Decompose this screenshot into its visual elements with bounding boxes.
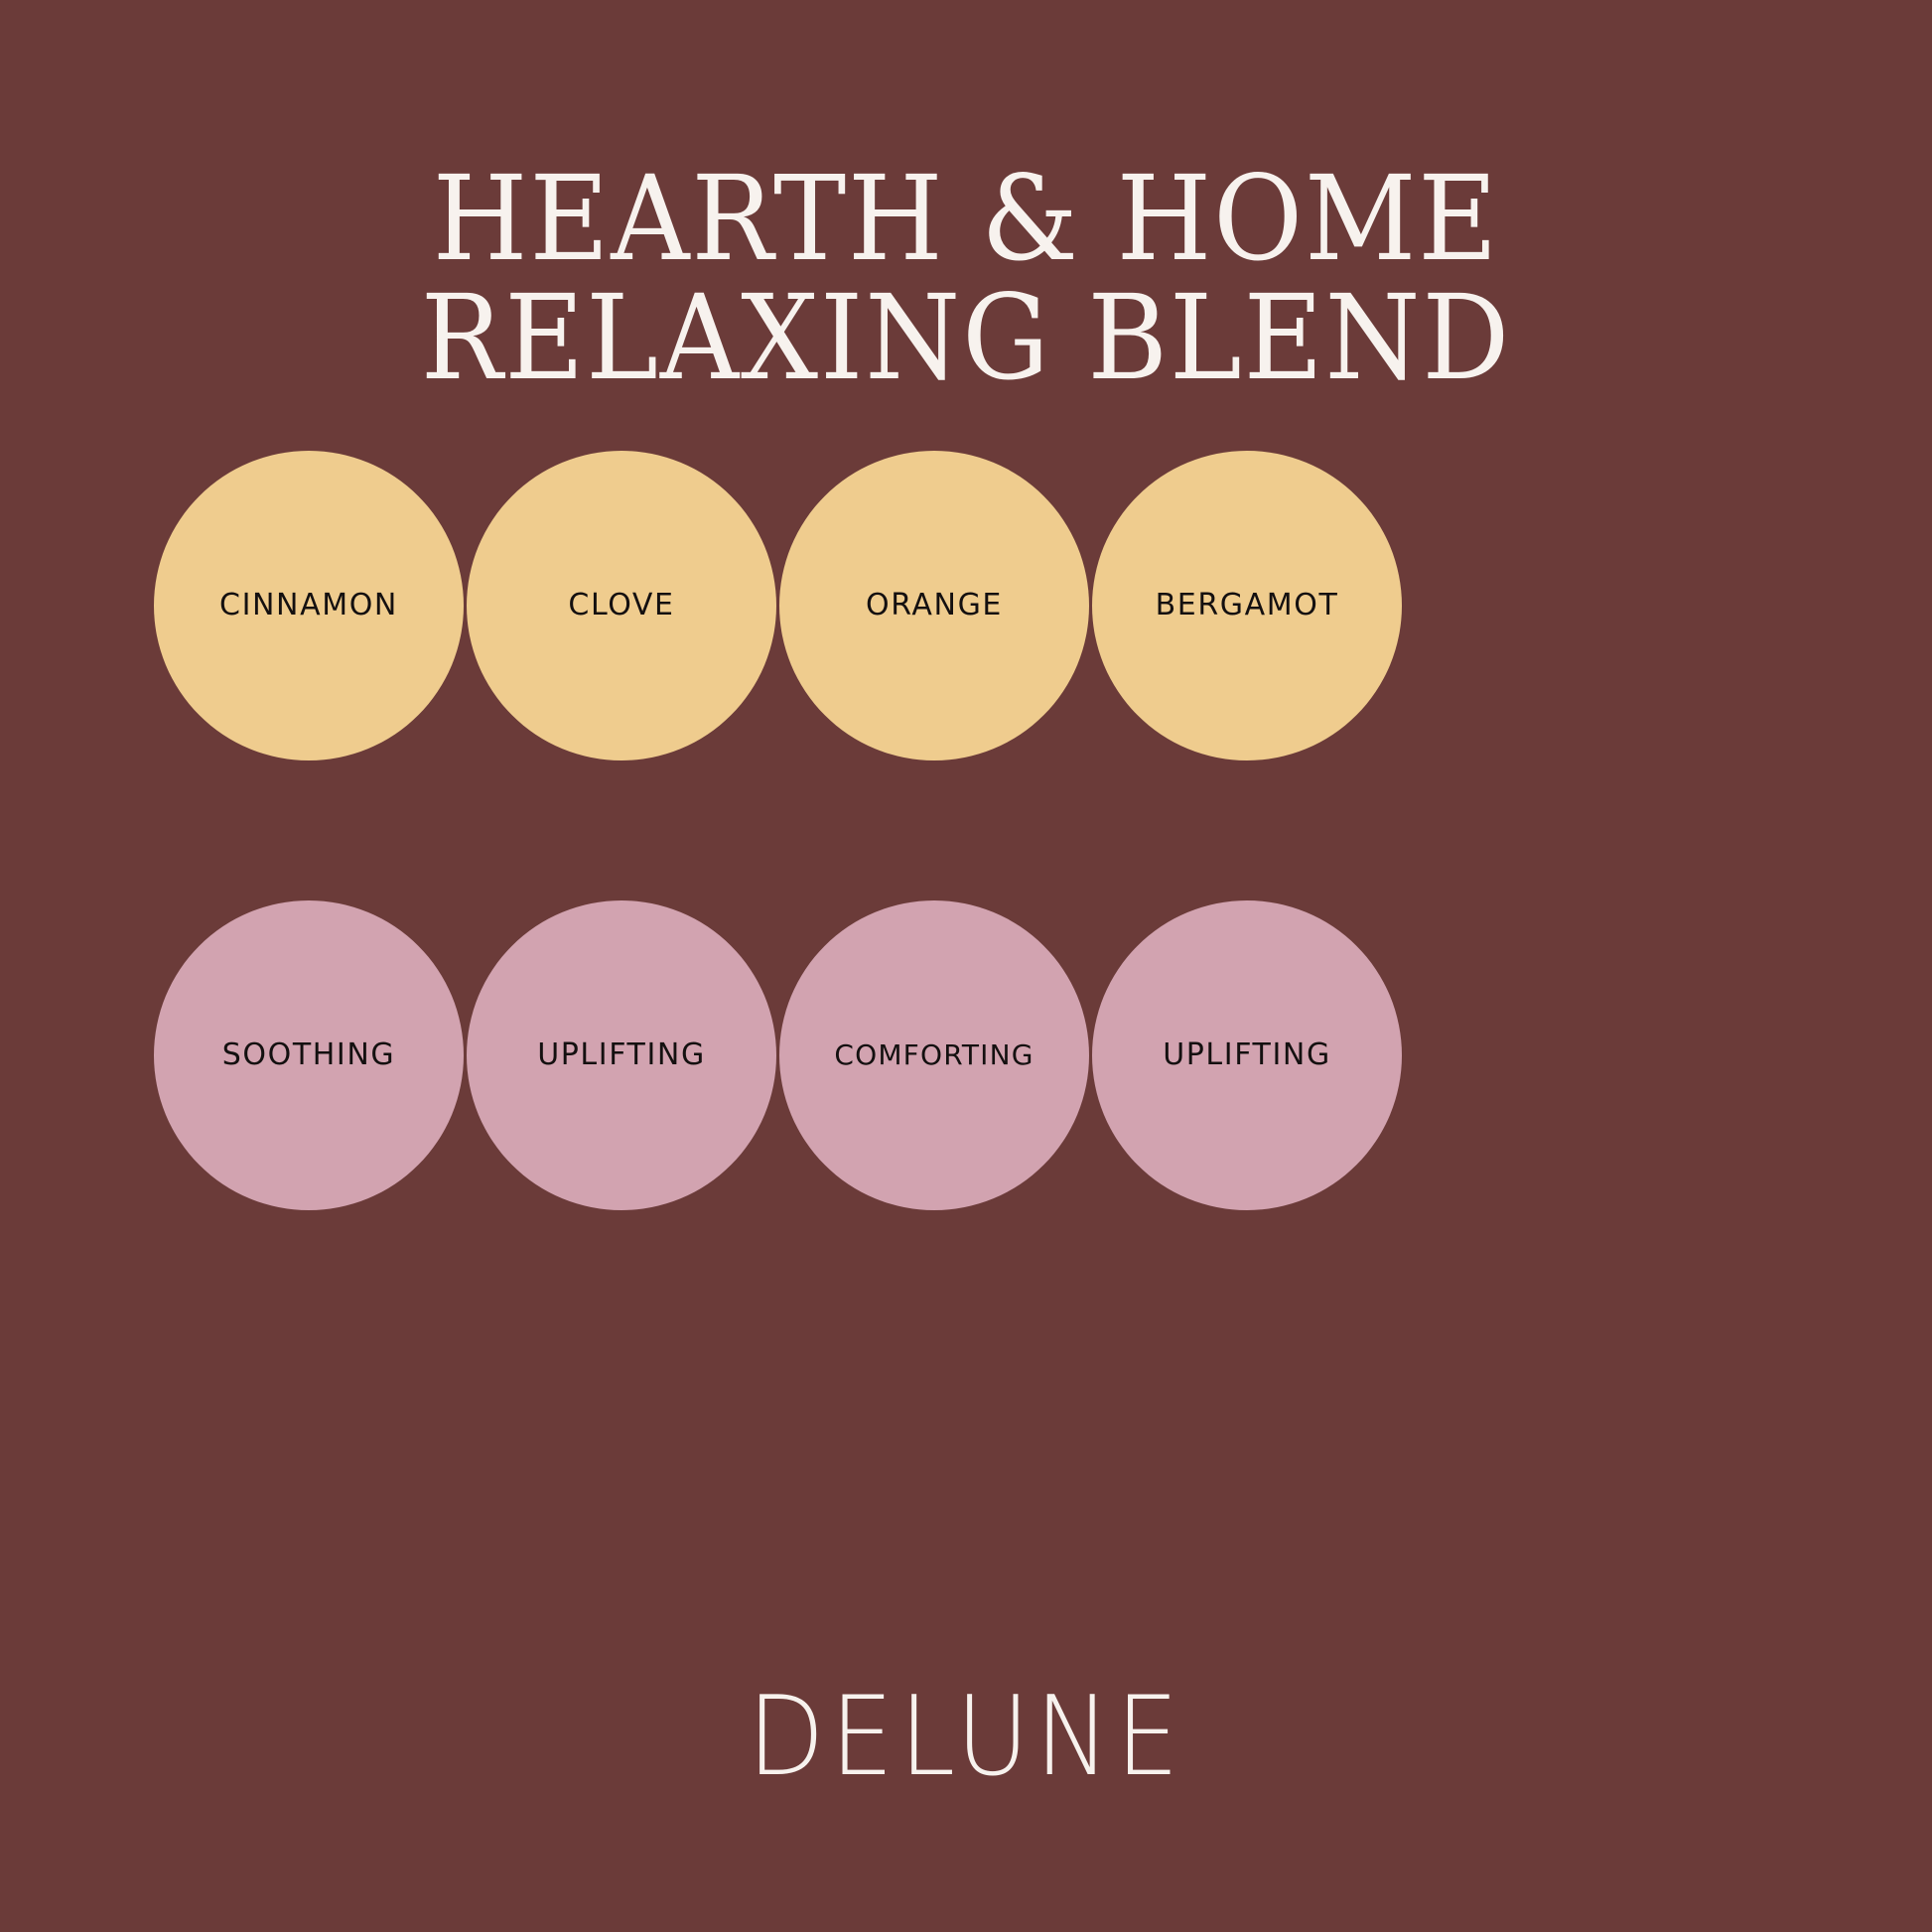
ingredient-circle-clove: CLOVE <box>467 451 776 760</box>
ingredients-row: CINNAMON CLOVE ORANGE BERGAMOT <box>154 451 1782 760</box>
title-line-1: HEARTH & HOME <box>68 159 1864 278</box>
infographic-poster: HEARTH & HOME RELAXING BLEND CINNAMON CL… <box>0 0 1932 1932</box>
ingredient-circle-bergamot: BERGAMOT <box>1092 451 1402 760</box>
ingredient-circle-cinnamon: CINNAMON <box>154 451 464 760</box>
ingredient-label: CINNAMON <box>219 591 398 621</box>
benefit-label: SOOTHING <box>222 1040 396 1070</box>
ingredient-label: BERGAMOT <box>1156 591 1339 621</box>
benefit-label: UPLIFTING <box>1163 1040 1331 1070</box>
ingredient-circle-orange: ORANGE <box>779 451 1089 760</box>
page-title: HEARTH & HOME RELAXING BLEND <box>0 159 1932 398</box>
benefit-circle-comforting: COMFORTING <box>779 900 1089 1210</box>
ingredient-label: CLOVE <box>568 591 674 621</box>
title-line-2: RELAXING BLEND <box>68 278 1864 397</box>
benefit-circle-uplifting-2: UPLIFTING <box>1092 900 1402 1210</box>
benefit-circle-soothing: SOOTHING <box>154 900 464 1210</box>
brand-logo: DELUNE <box>0 1676 1932 1797</box>
benefits-row: SOOTHING UPLIFTING COMFORTING UPLIFTING <box>154 900 1782 1210</box>
benefit-label: UPLIFTING <box>537 1040 706 1070</box>
ingredient-label: ORANGE <box>866 591 1003 621</box>
brand-name: DELUNE <box>748 1672 1185 1800</box>
benefit-label: COMFORTING <box>834 1041 1034 1069</box>
benefit-circle-uplifting-1: UPLIFTING <box>467 900 776 1210</box>
